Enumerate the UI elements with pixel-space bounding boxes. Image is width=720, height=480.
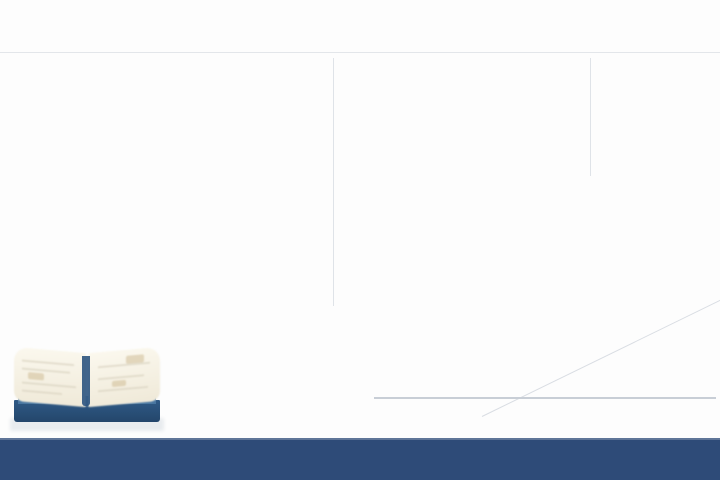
column-divider-2 (590, 58, 591, 176)
header-divider (0, 52, 720, 53)
book-page-left (14, 347, 86, 407)
book-spine (82, 356, 90, 406)
book-page-right (88, 347, 160, 407)
page-footer (0, 438, 720, 480)
chart-bars (378, 228, 716, 398)
chart-plot-area (378, 228, 716, 398)
chart-x-axis (374, 397, 716, 399)
open-book-illustration (8, 344, 166, 436)
infographic-page (0, 0, 720, 480)
footer-top-rule (0, 438, 720, 440)
stacked-bar-chart (370, 228, 718, 420)
column-divider-1 (333, 58, 334, 306)
page-header (0, 20, 720, 50)
